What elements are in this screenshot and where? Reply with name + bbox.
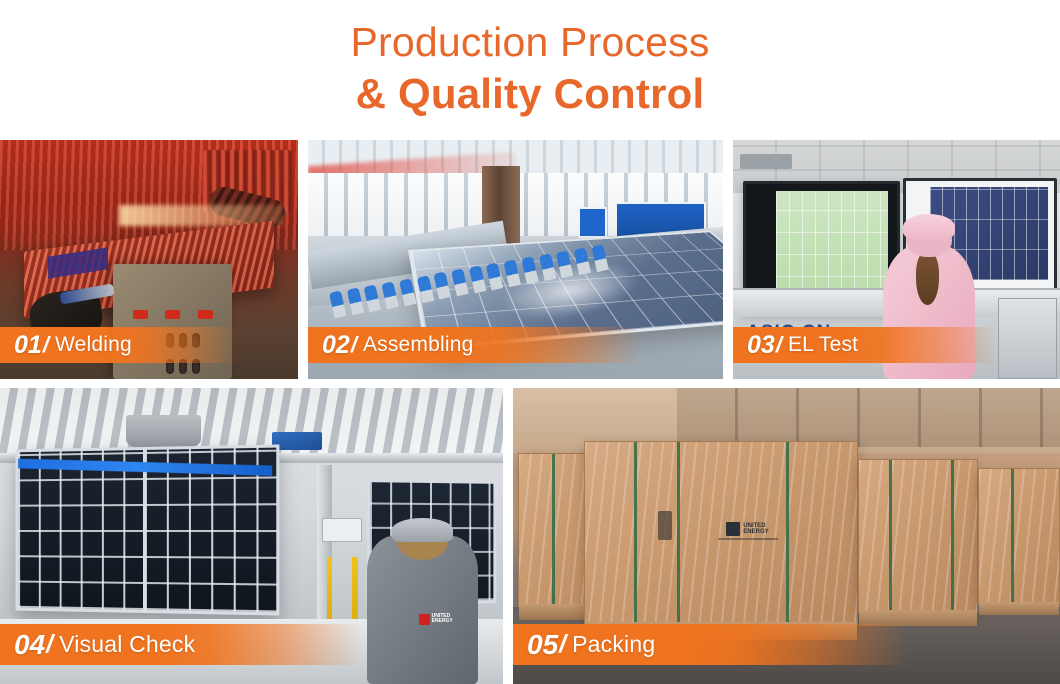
brand-mark-square xyxy=(419,614,430,625)
process-step-card-04[interactable]: UNITED ENERGY 04 / Visual Check xyxy=(0,388,503,684)
brand-name-line-2: ENERGY xyxy=(432,619,453,624)
step-caption-01: 01 / Welding xyxy=(0,327,238,363)
process-step-card-05[interactable]: UNITED ENERGY xyxy=(513,388,1060,684)
assembly-clamp xyxy=(434,271,452,299)
wrapped-crate xyxy=(978,468,1060,604)
process-step-card-02[interactable]: 02 / Assembling xyxy=(308,140,723,379)
fixture-red-clip xyxy=(198,310,213,320)
green-strap xyxy=(1011,469,1014,603)
production-process-page: Production Process & Quality Control xyxy=(0,0,1060,684)
assembly-clamp xyxy=(503,259,521,287)
assembly-clamp xyxy=(399,277,417,305)
brand-name-line-2: ENERGY xyxy=(743,529,768,536)
assembly-clamp xyxy=(486,262,504,290)
step-label-03: EL Test xyxy=(788,333,858,357)
assembly-clamp xyxy=(416,274,434,302)
green-strap xyxy=(951,460,954,612)
step-separator: / xyxy=(558,630,572,659)
assembly-clamp xyxy=(364,284,382,312)
step-number-03: 03 xyxy=(747,331,775,360)
brand-mark-square xyxy=(726,522,740,536)
step-number-05: 05 xyxy=(527,629,558,661)
process-step-card-01[interactable]: 01 / Welding xyxy=(0,140,298,379)
operator-cleanroom-cap xyxy=(903,214,955,240)
process-step-card-03[interactable]: ASIC CN 03 / EL Test xyxy=(733,140,1060,379)
assembly-clamp xyxy=(556,249,574,277)
assembly-clamp xyxy=(573,246,591,274)
step-label-05: Packing xyxy=(572,631,655,658)
green-strap xyxy=(786,442,789,624)
ceiling-air-vent xyxy=(740,154,792,168)
step-caption-05: 05 / Packing xyxy=(513,624,907,665)
step-caption-02: 02 / Assembling xyxy=(308,327,640,363)
assembly-clamp xyxy=(538,253,556,281)
step-separator: / xyxy=(775,332,788,358)
step-number-01: 01 xyxy=(14,331,42,360)
assembly-clamp xyxy=(346,287,364,315)
step-caption-04: 04 / Visual Check xyxy=(0,624,362,665)
stretch-wrap-sheen xyxy=(859,460,977,612)
side-equipment-cabinet xyxy=(998,298,1057,379)
united-energy-jacket-logo: UNITED ENERGY xyxy=(419,614,453,625)
step-separator: / xyxy=(42,332,55,358)
wrapped-crate xyxy=(858,459,978,613)
step-number-04: 04 xyxy=(14,629,45,661)
step-label-01: Welding xyxy=(55,333,132,357)
wrapped-crate-front: UNITED ENERGY xyxy=(584,441,858,625)
assembly-clamp xyxy=(381,281,399,309)
stretch-wrap-sheen xyxy=(979,469,1059,603)
step-label-04: Visual Check xyxy=(59,631,195,658)
fixture-red-clip xyxy=(133,310,148,320)
carton-tagline-line xyxy=(718,538,778,540)
ceiling-duct-unit xyxy=(126,415,201,451)
operator-hair xyxy=(916,252,939,305)
green-strap xyxy=(552,454,555,606)
assembly-clamp xyxy=(521,256,539,284)
wooden-pallet xyxy=(979,602,1059,615)
rear-carton-row xyxy=(677,388,1060,447)
step-caption-03: 03 / EL Test xyxy=(733,327,995,363)
carton-handle-marking xyxy=(658,511,672,540)
control-panel-box xyxy=(322,518,362,542)
hanging-blue-sign xyxy=(272,432,322,450)
step-number-02: 02 xyxy=(322,331,350,360)
step-label-02: Assembling xyxy=(363,333,474,357)
operator-cap xyxy=(392,518,452,542)
step-separator: / xyxy=(350,332,363,358)
assembly-clamp xyxy=(468,265,486,293)
united-energy-carton-logo: UNITED ENERGY xyxy=(726,522,768,536)
green-strap xyxy=(634,442,637,624)
green-strap xyxy=(889,460,892,612)
assembly-clamp xyxy=(451,268,469,296)
step-separator: / xyxy=(45,630,59,659)
process-gallery-grid: 01 / Welding 02 xyxy=(0,0,1060,684)
panel-center-divider xyxy=(143,450,146,610)
green-strap xyxy=(677,442,680,624)
el-electroluminescence-image xyxy=(776,191,888,299)
stretch-wrap-sheen xyxy=(585,442,857,624)
fixture-red-clip xyxy=(165,310,180,320)
